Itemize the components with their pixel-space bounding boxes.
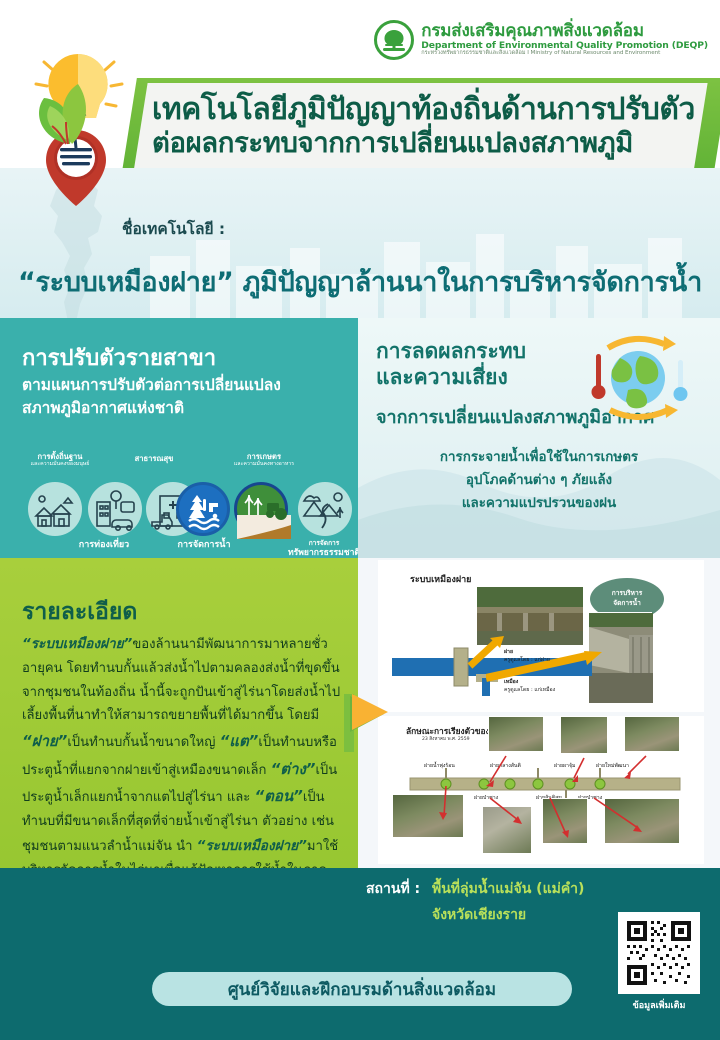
sector-subheading-line1: ตามแผนการปรับตัวต่อการเปลี่ยนแปลง [22, 374, 342, 397]
ministry-line: กระทรวงทรัพยากรธรรมชาติและสิ่งแวดล้อม I … [421, 51, 708, 57]
detail-heading: รายละเอียด [22, 594, 346, 630]
technology-name: “ระบบเหมืองฝาย” ภูมิปัญญาล้านนาในการบริห… [0, 260, 720, 303]
footer-band [0, 868, 720, 1040]
sector-label-3: การจัดการน้ำ [154, 540, 254, 551]
detail-emphasis-term: “ระบบเหมืองฝาย” [22, 636, 132, 652]
page-title-line1: เทคโนโลยีภูมิปัญญาท้องถิ่นด้านการปรับตัว [152, 92, 707, 127]
footer-pill: ศูนย์วิจัยและฝึกอบรมด้านสิ่งแวดล้อม [152, 972, 572, 1006]
village-houses-icon[interactable] [28, 482, 82, 536]
label-canal: เหมือง [504, 678, 518, 686]
farm-tractor-wheat-icon[interactable] [234, 482, 288, 536]
poster-root: กรมส่งเสริมคุณภาพสิ่งแวดล้อม Department … [0, 0, 720, 1040]
org-name-th: กรมส่งเสริมคุณภาพสิ่งแวดล้อม [421, 23, 708, 41]
detail-emphasis-term: “ต่าง” [271, 760, 316, 778]
footer-text: ศูนย์วิจัยและฝึกอบรมด้านสิ่งแวดล้อม [228, 976, 496, 1003]
flow-arrow-icon [344, 692, 390, 754]
detail-emphasis-term: “ตอน” [254, 787, 302, 805]
label-weir-sub: ครูดูแลโดย : แก่ฝาย [504, 656, 550, 664]
detail-paragraph: “ระบบเหมืองฝาย”ของล้านนามีพัฒนาการมาหลาย… [22, 632, 346, 907]
sector-label-5: การจัดการ ทรัพยากรธรรมชาติ [284, 538, 364, 558]
weir-sequence-diagram: ลักษณะการเรียงตัวของฝาย 23 สิงหาคม พ.ศ. … [378, 716, 704, 864]
location-label: สถานที่ : [366, 878, 420, 900]
label-weir: ฝาย [504, 648, 513, 656]
sector-sublabel-4: และความมั่นคงทางอาหาร [212, 461, 316, 467]
diagram-top-title: ระบบเหมืองฝาย [410, 572, 471, 586]
impact-heading-line2: และความเสี่ยง [376, 364, 526, 390]
location-line2: จังหวัดเชียงราย [432, 904, 526, 926]
tree-water-circle-icon [374, 20, 414, 60]
sector-icons-row: การตั้งถิ่นฐาน และความมั่นคงของมนุษย์ [6, 452, 358, 556]
sector-panel-subheading: ตามแผนการปรับตัวต่อการเปลี่ยนแปลง สภาพภู… [22, 374, 342, 421]
impact-reduction-panel: การลดผลกระทบ และความเสี่ยง จากการเปลี่ยน… [358, 318, 720, 558]
impact-panel-body: การกระจายน้ำเพื่อใช้ในการเกษตร อุปโภคด้า… [358, 446, 720, 515]
impact-panel-heading: การลดผลกระทบ และความเสี่ยง [376, 338, 526, 391]
lightbulb-leaf-map-pin-icon [22, 48, 134, 208]
bubble-line1: การบริหาร [612, 589, 643, 599]
detail-content: รายละเอียด “ระบบเหมืองฝาย”ของล้านนามีพัฒ… [22, 594, 346, 907]
sector-subheading-line2: สภาพภูมิอากาศแห่งชาติ [22, 397, 342, 420]
sector-label-2: สาธารณสุข [106, 454, 202, 463]
globe-thermometer-arrows-icon [578, 332, 698, 424]
sector-label-0: การตั้งถิ่นฐาน และความมั่นคงของมนุษย์ [8, 452, 112, 467]
detail-text-run: เป็นทำนบกั้นน้ำขนาดใหญ่ [67, 735, 219, 750]
water-tap-river-icon[interactable] [176, 482, 230, 536]
tourism-city-car-icon[interactable] [88, 482, 142, 536]
sector-sublabel-5: ทรัพยากรธรรมชาติ [284, 548, 364, 558]
detail-emphasis-term: “แต” [220, 732, 259, 750]
bubble-line2: จัดการน้ำ [612, 599, 643, 609]
mountain-forest-river-icon[interactable] [298, 482, 352, 536]
impact-body-line3: และความแปรปรวนของฝน [358, 492, 720, 515]
sector-label-1: การท่องเที่ยว [54, 540, 154, 551]
technology-label: ชื่อเทคโนโลยี : [122, 216, 225, 241]
impact-heading-line1: การลดผลกระทบ [376, 338, 526, 364]
sector-panel-heading: การปรับตัวรายสาขา [22, 340, 216, 375]
impact-body-line1: การกระจายน้ำเพื่อใช้ในการเกษตร [358, 446, 720, 469]
sector-sublabel-0: และความมั่นคงของมนุษย์ [8, 461, 112, 467]
qr-caption: ข้อมูลเพิ่มเติม [618, 998, 700, 1012]
sector-label-4: การเกษตร และความมั่นคงทางอาหาร [212, 452, 316, 467]
location-line1: พื้นที่ลุ่มน้ำแม่จัน (แม่คำ) [432, 878, 584, 900]
deqp-logo: กรมส่งเสริมคุณภาพสิ่งแวดล้อม Department … [374, 20, 708, 60]
label-canal-sub: ครูดูแลโดย : แก่เหมือง [504, 686, 555, 694]
detail-emphasis-term: “ระบบเหมืองฝาย” [197, 838, 307, 854]
qr-code-icon[interactable] [618, 912, 700, 994]
connector-arrows [378, 716, 704, 864]
impact-body-line2: อุปโภคด้านต่าง ๆ ภัยแล้ง [358, 469, 720, 492]
detail-emphasis-term: “ฝาย” [22, 732, 67, 750]
org-name-en: Department of Environmental Quality Prom… [421, 41, 708, 51]
weir-system-diagram: ระบบเหมืองฝาย การบริหาร จัดการน้ำ [378, 560, 704, 712]
